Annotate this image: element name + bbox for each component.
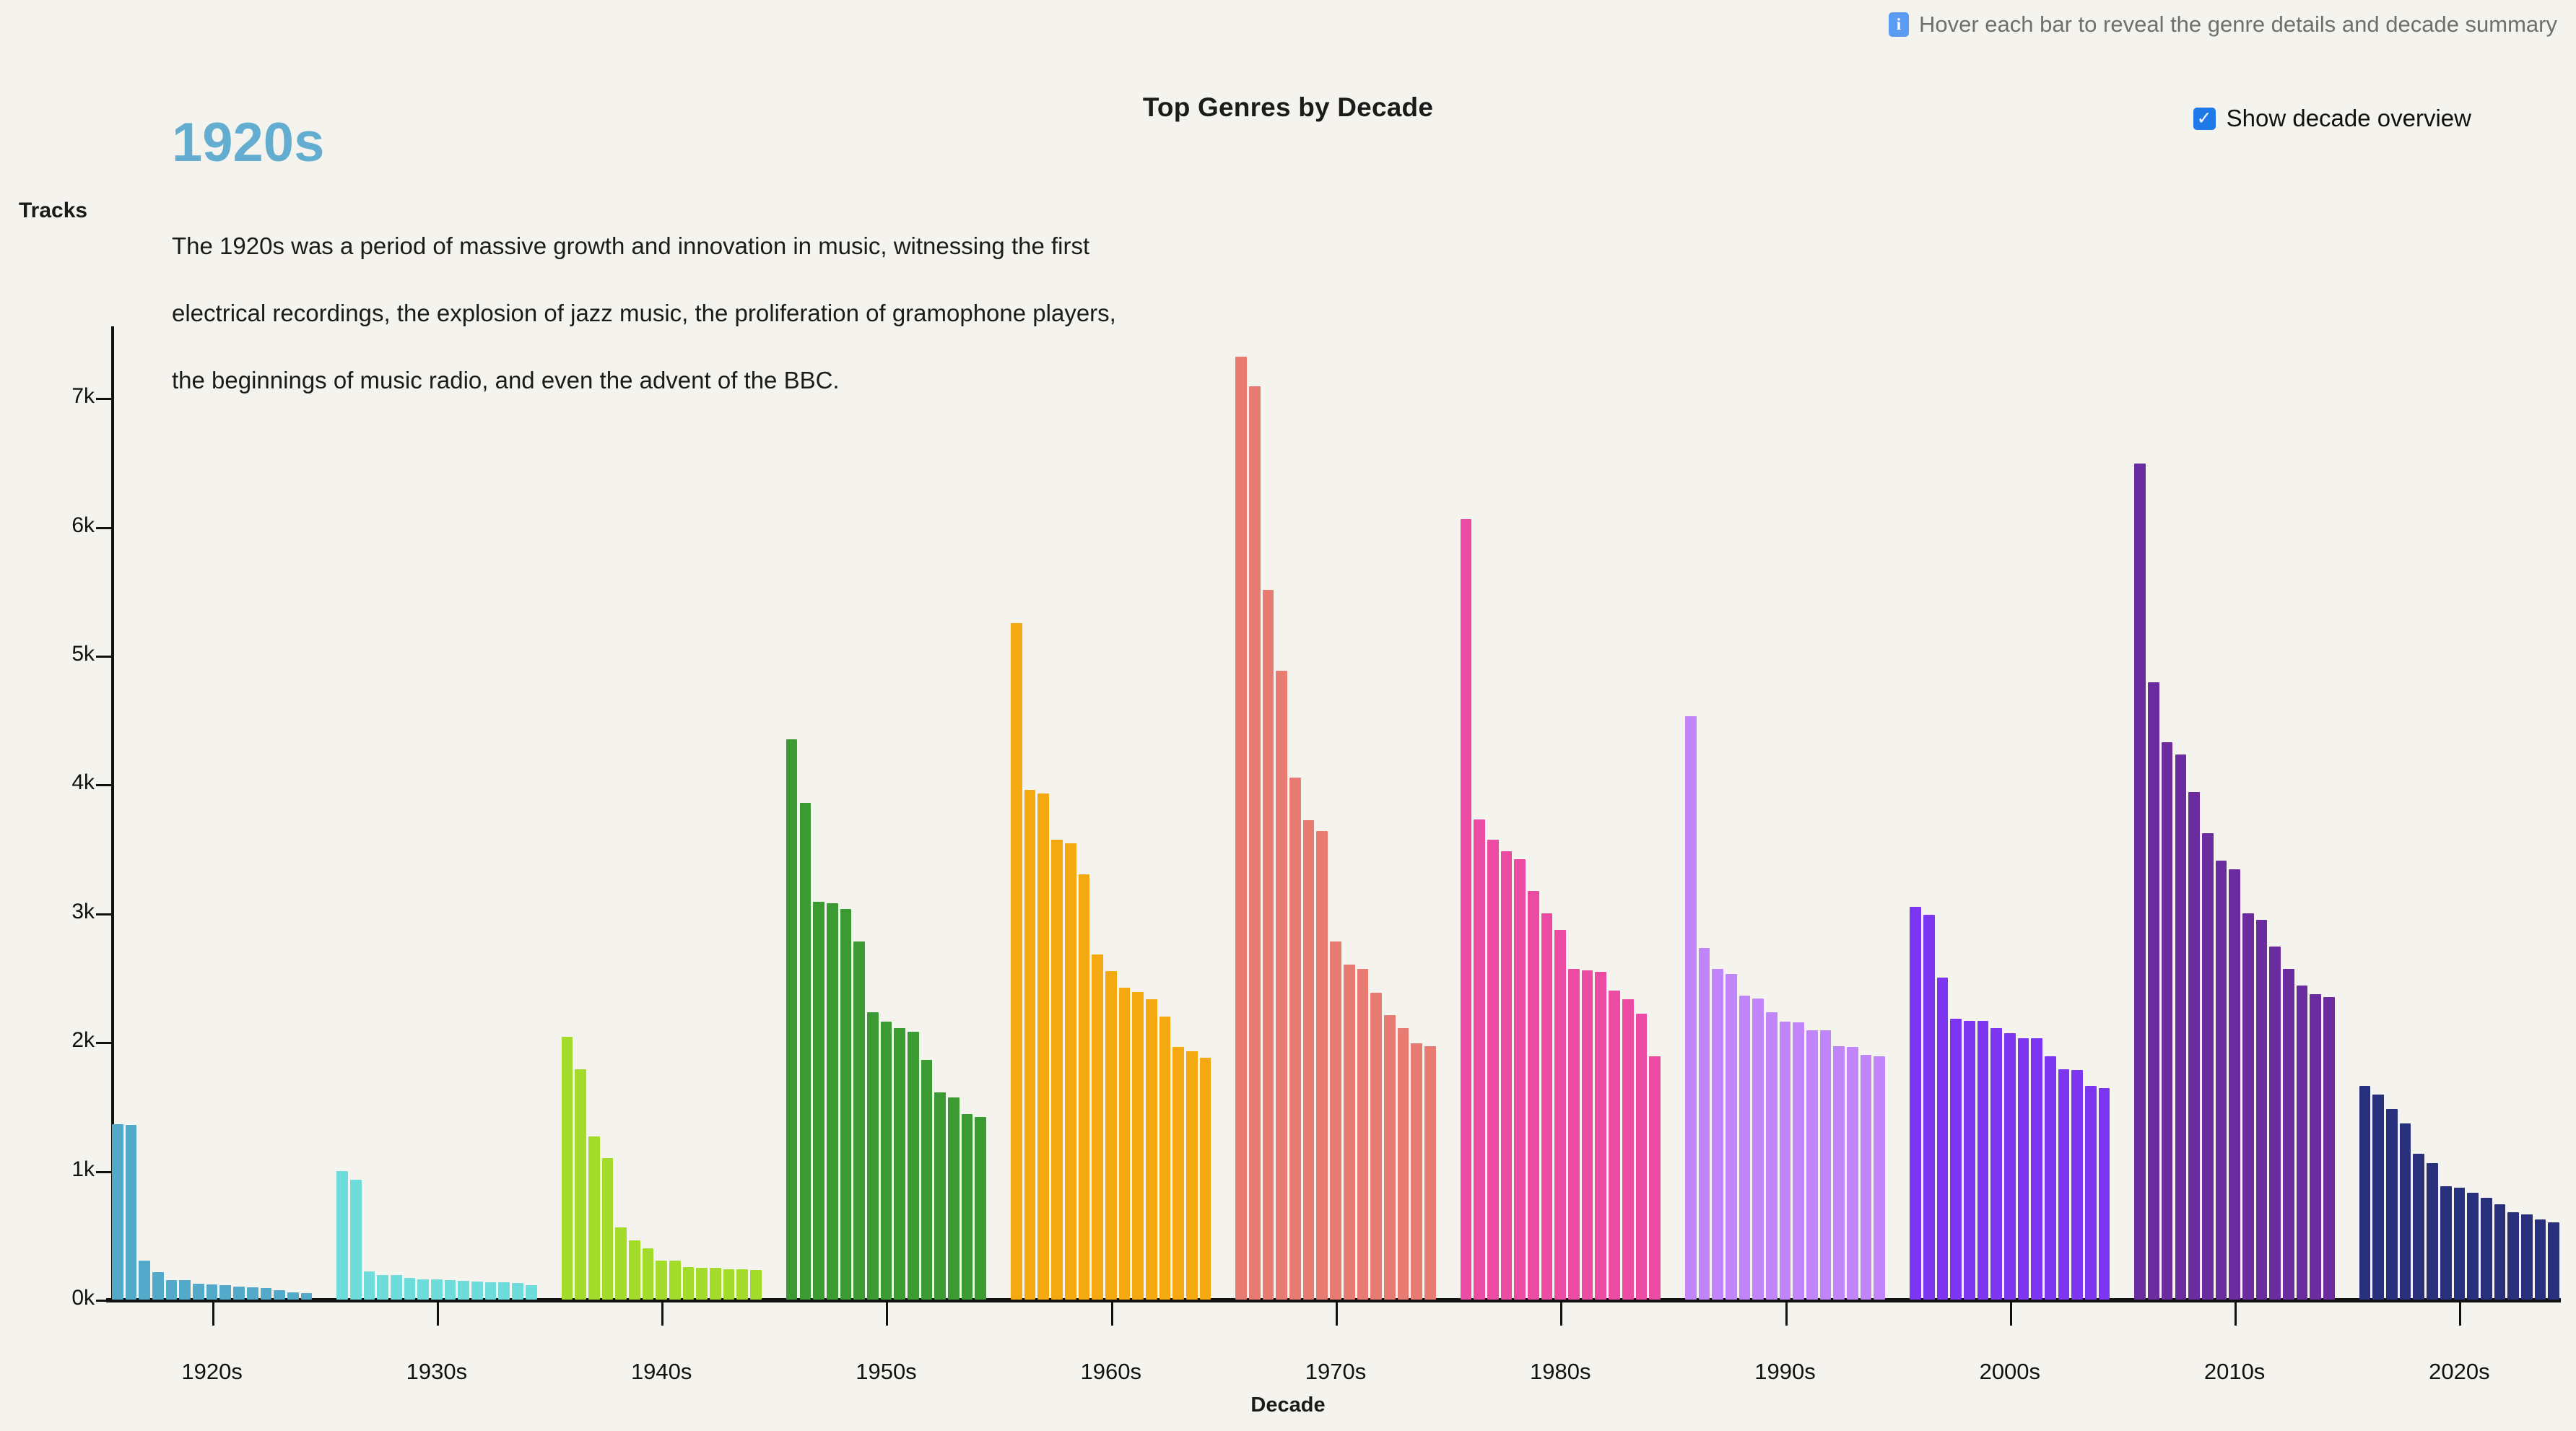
bar-1950s-8[interactable] <box>881 1022 892 1300</box>
y-axis-title: Tracks <box>19 199 87 223</box>
bar-1970s-11[interactable] <box>1370 993 1382 1300</box>
bar-2020s-15[interactable] <box>2548 1222 2559 1300</box>
bar-1970s-5[interactable] <box>1289 778 1301 1300</box>
y-axis-tick <box>96 1171 112 1173</box>
bar-1960s-9[interactable] <box>1119 988 1131 1300</box>
bar-1980s-6[interactable] <box>1528 891 1539 1300</box>
bar-1960s-3[interactable] <box>1037 793 1049 1300</box>
bar-1920s-15[interactable] <box>301 1293 313 1300</box>
bar-2000s-1[interactable] <box>1910 907 1921 1300</box>
bar-2010s-12[interactable] <box>2283 969 2294 1300</box>
y-axis-tick-label: 6k <box>40 513 95 538</box>
bar-1980s-12[interactable] <box>1609 991 1620 1300</box>
bar-2010s-13[interactable] <box>2297 986 2308 1300</box>
bar-1940s-9[interactable] <box>669 1261 681 1300</box>
bar-1920s-12[interactable] <box>261 1288 272 1300</box>
x-axis-tick-label-2010s: 2010s <box>2155 1359 2314 1385</box>
bar-2000s-7[interactable] <box>1990 1028 2002 1300</box>
bar-1930s-14[interactable] <box>512 1283 523 1300</box>
bar-1920s-9[interactable] <box>219 1285 231 1300</box>
bar-1970s-15[interactable] <box>1424 1046 1436 1300</box>
bar-1990s-7[interactable] <box>1766 1012 1777 1300</box>
bar-1990s-2[interactable] <box>1699 948 1710 1300</box>
bar-2000s-9[interactable] <box>2018 1038 2029 1300</box>
bar-1980s-3[interactable] <box>1487 840 1499 1300</box>
hint-text: Hover each bar to reveal the genre detai… <box>1919 12 2557 38</box>
bar-1960s-8[interactable] <box>1105 971 1117 1300</box>
bar-1940s-13[interactable] <box>723 1269 735 1300</box>
bar-1950s-5[interactable] <box>840 909 852 1300</box>
bar-2010s-3[interactable] <box>2162 742 2173 1300</box>
bar-2000s-8[interactable] <box>2004 1033 2016 1300</box>
bar-1990s-1[interactable] <box>1685 716 1697 1300</box>
bar-1930s-1[interactable] <box>336 1171 348 1300</box>
bar-1950s-13[interactable] <box>948 1097 960 1300</box>
y-axis-tick <box>96 527 112 529</box>
bar-1970s-9[interactable] <box>1344 965 1355 1300</box>
bar-1960s-6[interactable] <box>1079 874 1090 1300</box>
y-axis-tick <box>96 1300 112 1302</box>
bar-1980s-9[interactable] <box>1568 969 1580 1300</box>
bar-1920s-11[interactable] <box>247 1287 258 1300</box>
overview-checkbox-label: Show decade overview <box>2227 105 2471 132</box>
x-axis-tick <box>1336 1302 1338 1326</box>
bar-1970s-14[interactable] <box>1411 1043 1422 1300</box>
bar-1950s-14[interactable] <box>962 1114 973 1300</box>
x-axis-tick <box>886 1302 888 1326</box>
bar-1940s-3[interactable] <box>588 1136 600 1300</box>
y-axis-tick <box>96 784 112 786</box>
bar-2010s-4[interactable] <box>2175 754 2187 1300</box>
bar-1990s-14[interactable] <box>1861 1055 1872 1300</box>
x-axis-tick-label-1960s: 1960s <box>1032 1359 1191 1385</box>
bar-1930s-8[interactable] <box>431 1279 443 1300</box>
x-axis-tick <box>1560 1302 1562 1326</box>
bar-1990s-13[interactable] <box>1847 1047 1858 1300</box>
bar-1970s-13[interactable] <box>1398 1028 1409 1300</box>
bar-1970s-10[interactable] <box>1357 969 1369 1300</box>
bar-1970s-6[interactable] <box>1303 820 1315 1300</box>
bar-2010s-7[interactable] <box>2216 861 2227 1300</box>
bar-chart-plot: 0k1k2k3k4k5k6k7k 1920s1930s1940s1950s196… <box>112 334 2559 1300</box>
bar-2000s-10[interactable] <box>2031 1038 2042 1300</box>
bar-1970s-3[interactable] <box>1263 590 1274 1300</box>
bar-1920s-10[interactable] <box>233 1287 245 1300</box>
bar-1980s-5[interactable] <box>1514 859 1526 1300</box>
bar-1920s-14[interactable] <box>287 1292 299 1300</box>
bar-1940s-11[interactable] <box>696 1268 708 1300</box>
bar-2020s-11[interactable] <box>2494 1204 2506 1300</box>
x-axis-tick-label-1930s: 1930s <box>357 1359 516 1385</box>
bar-2010s-14[interactable] <box>2310 994 2321 1300</box>
bar-2000s-15[interactable] <box>2099 1088 2110 1300</box>
x-axis-tick <box>661 1302 663 1326</box>
x-axis-tick-label-1950s: 1950s <box>806 1359 965 1385</box>
bar-2020s-12[interactable] <box>2507 1212 2519 1300</box>
bar-1970s-12[interactable] <box>1384 1015 1396 1300</box>
bar-2010s-15[interactable] <box>2323 997 2335 1300</box>
bar-2000s-6[interactable] <box>1977 1021 1989 1300</box>
bar-1980s-10[interactable] <box>1582 970 1593 1300</box>
bar-1970s-7[interactable] <box>1316 831 1328 1300</box>
bar-1940s-7[interactable] <box>643 1248 654 1300</box>
bar-1980s-8[interactable] <box>1554 930 1566 1300</box>
bar-1960s-14[interactable] <box>1186 1051 1198 1300</box>
bar-2020s-14[interactable] <box>2535 1219 2546 1300</box>
bar-2000s-13[interactable] <box>2071 1070 2083 1300</box>
bar-1950s-6[interactable] <box>853 941 865 1300</box>
y-axis-tick <box>96 1042 112 1044</box>
bar-1940s-1[interactable] <box>562 1037 573 1300</box>
bar-2020s-3[interactable] <box>2386 1109 2398 1300</box>
bar-1920s-6[interactable] <box>179 1280 191 1300</box>
bar-1990s-3[interactable] <box>1712 969 1723 1300</box>
x-axis-tick-label-1980s: 1980s <box>1481 1359 1640 1385</box>
bar-1920s-7[interactable] <box>193 1284 204 1300</box>
decade-name: 1920s <box>172 116 1183 170</box>
bar-1920s-3[interactable] <box>139 1261 150 1300</box>
x-axis-tick-label-1990s: 1990s <box>1706 1359 1865 1385</box>
bar-1940s-15[interactable] <box>750 1270 762 1300</box>
x-axis-title: Decade <box>0 1393 2576 1417</box>
x-axis-tick <box>1111 1302 1113 1326</box>
bar-1950s-9[interactable] <box>894 1028 905 1300</box>
bar-1950s-3[interactable] <box>813 902 824 1300</box>
bar-2010s-2[interactable] <box>2148 682 2159 1300</box>
bar-1990s-9[interactable] <box>1793 1022 1804 1300</box>
bar-1980s-14[interactable] <box>1636 1014 1648 1300</box>
bar-2010s-1[interactable] <box>2134 464 2146 1300</box>
bar-1960s-2[interactable] <box>1024 790 1036 1300</box>
bar-2010s-8[interactable] <box>2229 869 2240 1300</box>
bar-2010s-6[interactable] <box>2202 833 2214 1300</box>
bar-1990s-4[interactable] <box>1726 974 1737 1300</box>
bar-1920s-5[interactable] <box>166 1280 178 1300</box>
bar-1960s-12[interactable] <box>1159 1017 1171 1300</box>
bar-1940s-12[interactable] <box>710 1268 721 1300</box>
bar-1970s-1[interactable] <box>1235 357 1247 1300</box>
bar-1990s-6[interactable] <box>1752 999 1764 1300</box>
bar-1970s-8[interactable] <box>1330 941 1341 1300</box>
bar-1940s-14[interactable] <box>736 1269 748 1300</box>
bar-1930s-13[interactable] <box>498 1282 510 1300</box>
x-axis-tick <box>2010 1302 2012 1326</box>
y-axis-tick-label: 4k <box>40 770 95 795</box>
bar-1990s-11[interactable] <box>1820 1030 1832 1300</box>
bar-2000s-11[interactable] <box>2045 1056 2056 1300</box>
bar-1950s-7[interactable] <box>867 1012 879 1300</box>
x-axis-tick-label-2000s: 2000s <box>1931 1359 2089 1385</box>
bar-2020s-8[interactable] <box>2454 1188 2466 1300</box>
bar-1950s-10[interactable] <box>908 1032 919 1300</box>
hint-bar: i Hover each bar to reveal the genre det… <box>1889 12 2557 38</box>
x-axis-tick-label-1970s: 1970s <box>1256 1359 1415 1385</box>
x-axis-tick-label-1920s: 1920s <box>133 1359 292 1385</box>
bar-1940s-8[interactable] <box>656 1261 667 1300</box>
overview-checkbox[interactable]: ✓ <box>2193 108 2216 130</box>
bar-2010s-10[interactable] <box>2256 920 2268 1300</box>
bar-1940s-6[interactable] <box>629 1240 640 1300</box>
bar-1950s-12[interactable] <box>934 1092 946 1300</box>
bar-2000s-2[interactable] <box>1923 915 1935 1300</box>
bar-1990s-12[interactable] <box>1833 1046 1845 1300</box>
bar-1930s-9[interactable] <box>445 1280 456 1300</box>
bar-2010s-9[interactable] <box>2242 913 2254 1300</box>
y-axis-tick-label: 2k <box>40 1028 95 1053</box>
y-axis-tick-label: 5k <box>40 642 95 666</box>
bar-2010s-11[interactable] <box>2269 947 2281 1300</box>
bar-2020s-13[interactable] <box>2521 1214 2533 1300</box>
bar-1960s-10[interactable] <box>1132 992 1144 1300</box>
bar-1960s-15[interactable] <box>1200 1058 1211 1300</box>
bar-1940s-2[interactable] <box>575 1069 586 1300</box>
y-axis-tick <box>96 398 112 400</box>
bar-1920s-2[interactable] <box>126 1125 137 1300</box>
bar-1940s-10[interactable] <box>683 1267 695 1300</box>
bar-2020s-6[interactable] <box>2427 1163 2438 1300</box>
show-decade-overview-toggle[interactable]: ✓ Show decade overview <box>2193 105 2471 132</box>
bar-2000s-3[interactable] <box>1937 978 1949 1300</box>
bar-1920s-13[interactable] <box>274 1290 285 1300</box>
bar-1930s-11[interactable] <box>471 1282 483 1300</box>
bar-1920s-1[interactable] <box>112 1124 123 1300</box>
bar-1960s-5[interactable] <box>1065 843 1076 1300</box>
bar-2000s-14[interactable] <box>2085 1086 2097 1300</box>
bar-1960s-4[interactable] <box>1051 840 1063 1300</box>
x-axis-tick <box>2235 1302 2237 1326</box>
bar-1930s-3[interactable] <box>364 1271 375 1300</box>
bar-1970s-4[interactable] <box>1276 671 1287 1300</box>
bar-1930s-4[interactable] <box>377 1275 388 1300</box>
bar-1980s-11[interactable] <box>1595 972 1606 1300</box>
bar-1950s-2[interactable] <box>800 803 811 1300</box>
bar-1990s-5[interactable] <box>1739 996 1751 1300</box>
bar-1930s-5[interactable] <box>391 1275 402 1300</box>
info-icon: i <box>1889 12 1909 37</box>
bar-1940s-4[interactable] <box>602 1158 614 1300</box>
bar-1980s-1[interactable] <box>1461 519 1472 1300</box>
bar-1980s-4[interactable] <box>1501 851 1513 1300</box>
y-axis-tick-label: 7k <box>40 384 95 409</box>
y-axis-tick-label: 3k <box>40 900 95 924</box>
y-axis-tick <box>96 913 112 915</box>
y-axis-tick-label: 0k <box>40 1286 95 1310</box>
x-axis-tick <box>2459 1302 2461 1326</box>
bar-1990s-8[interactable] <box>1780 1022 1791 1300</box>
bar-1930s-12[interactable] <box>485 1282 497 1300</box>
x-axis-tick-label-2020s: 2020s <box>2380 1359 2538 1385</box>
y-axis-tick-label: 1k <box>40 1157 95 1182</box>
bar-1950s-1[interactable] <box>786 739 798 1300</box>
y-axis-tick <box>96 656 112 658</box>
bar-1960s-13[interactable] <box>1172 1047 1184 1300</box>
bar-1980s-7[interactable] <box>1541 913 1553 1300</box>
bar-1970s-2[interactable] <box>1249 386 1261 1300</box>
x-axis-tick <box>1785 1302 1788 1326</box>
bar-2020s-7[interactable] <box>2440 1186 2452 1300</box>
bar-1930s-10[interactable] <box>458 1281 469 1300</box>
bar-1930s-7[interactable] <box>417 1279 429 1300</box>
bar-1950s-11[interactable] <box>921 1060 933 1300</box>
bar-2020s-9[interactable] <box>2467 1193 2479 1300</box>
bar-1920s-8[interactable] <box>206 1284 218 1300</box>
bar-1990s-10[interactable] <box>1806 1030 1818 1300</box>
bar-1950s-15[interactable] <box>975 1117 986 1300</box>
bar-1930s-6[interactable] <box>404 1278 416 1300</box>
bar-1960s-11[interactable] <box>1146 999 1157 1300</box>
bar-1950s-4[interactable] <box>827 903 838 1300</box>
x-axis-tick <box>437 1302 439 1326</box>
bar-2020s-4[interactable] <box>2400 1123 2411 1300</box>
bar-1940s-5[interactable] <box>615 1227 627 1300</box>
x-axis-tick-label-1940s: 1940s <box>582 1359 741 1385</box>
bar-2000s-12[interactable] <box>2058 1069 2070 1300</box>
bar-1930s-2[interactable] <box>350 1180 362 1300</box>
bar-1980s-15[interactable] <box>1649 1056 1661 1300</box>
bar-1920s-4[interactable] <box>152 1272 164 1300</box>
bar-1980s-2[interactable] <box>1474 819 1485 1300</box>
bar-1960s-1[interactable] <box>1011 623 1022 1300</box>
bar-1930s-15[interactable] <box>526 1285 537 1300</box>
bar-2020s-1[interactable] <box>2359 1086 2371 1300</box>
bar-2000s-5[interactable] <box>1964 1021 1975 1300</box>
bar-2020s-5[interactable] <box>2413 1154 2424 1300</box>
bar-1990s-15[interactable] <box>1874 1056 1885 1300</box>
x-axis-tick <box>212 1302 214 1326</box>
bar-1960s-7[interactable] <box>1092 954 1103 1300</box>
bar-2010s-5[interactable] <box>2188 792 2200 1300</box>
bar-1980s-13[interactable] <box>1622 999 1634 1300</box>
bar-2000s-4[interactable] <box>1950 1019 1962 1300</box>
bar-2020s-2[interactable] <box>2372 1095 2384 1300</box>
bar-2020s-10[interactable] <box>2481 1198 2492 1300</box>
